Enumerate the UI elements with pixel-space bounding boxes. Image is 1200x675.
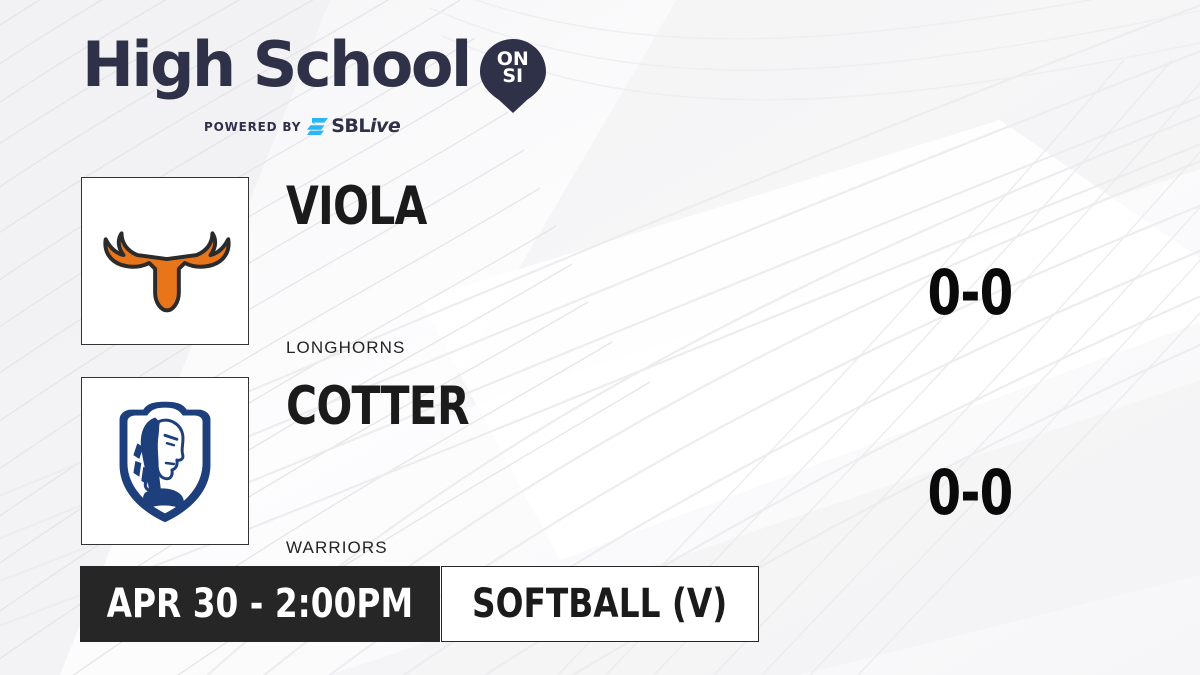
page-title: High School xyxy=(82,36,470,95)
powered-by-label: POWERED BY xyxy=(204,120,301,134)
away-team-mascot: LONGHORNS xyxy=(286,338,405,358)
brand-lockup: High School ON SI POWERED BY SBLive xyxy=(82,36,546,136)
badge-line-2: SI xyxy=(480,68,546,85)
home-team-mascot: WARRIORS xyxy=(286,538,388,558)
partner-name-italic: ive xyxy=(370,117,400,136)
longhorn-bull-head-icon xyxy=(82,178,248,344)
sblive-logo: SBLive xyxy=(307,117,400,136)
map-pin-icon: ON SI xyxy=(480,39,546,113)
game-info-bar: APR 30 - 2:00PM SOFTBALL (V) xyxy=(80,566,759,642)
away-team-record: 0-0 xyxy=(915,262,1024,324)
away-team-logo-box xyxy=(81,177,249,345)
home-team-logo-box xyxy=(81,377,249,545)
sblive-s-mark-icon xyxy=(307,118,328,135)
game-sport-chip: SOFTBALL (V) xyxy=(441,566,759,642)
home-team-record: 0-0 xyxy=(915,462,1024,524)
powered-by-row: POWERED BY SBLive xyxy=(204,117,546,136)
partner-name-bold: SBL xyxy=(331,117,370,136)
home-team-name: COTTER xyxy=(286,380,469,433)
away-team-name: VIOLA xyxy=(286,180,426,233)
warrior-shield-icon xyxy=(82,378,248,544)
game-datetime-label: APR 30 - 2:00PM xyxy=(107,584,413,624)
game-sport-label: SOFTBALL (V) xyxy=(472,584,727,624)
game-datetime-chip: APR 30 - 2:00PM xyxy=(80,566,440,642)
